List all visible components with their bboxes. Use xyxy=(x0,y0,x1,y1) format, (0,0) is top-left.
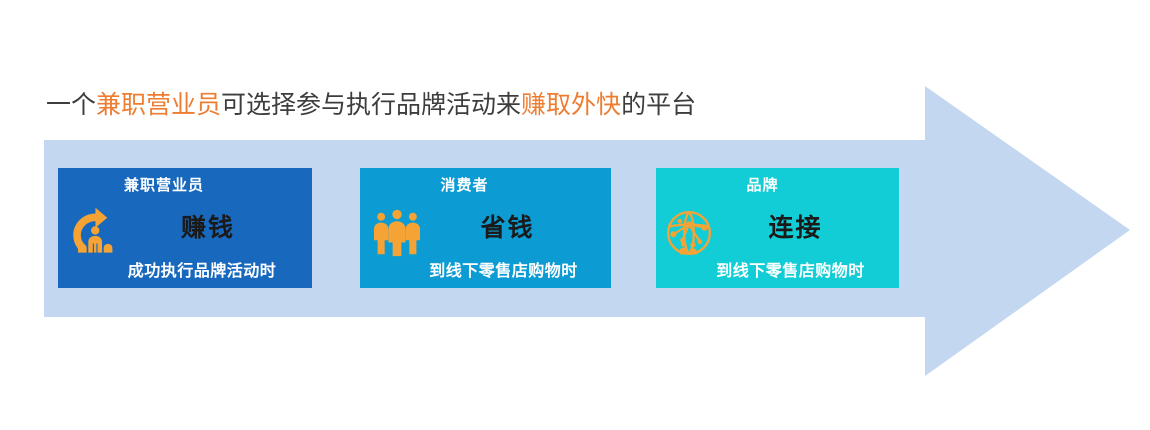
card-header-label: 兼职营业员 xyxy=(58,175,312,195)
card-brand[interactable]: 品牌 连接 到线下零售店购物时 xyxy=(656,168,899,288)
card-footer-label: 成功执行品牌活动时 xyxy=(58,260,312,281)
card-consumer[interactable]: 消费者 省钱 到线下零售店购物时 xyxy=(360,168,611,288)
card-main-label: 省钱 xyxy=(360,212,611,244)
title-segment-4: 的平台 xyxy=(621,90,696,119)
title-segment-2: 可选择参与执行品牌活动来 xyxy=(221,90,521,119)
title-segment-1-highlight: 兼职营业员 xyxy=(96,90,221,119)
title-segment-3-highlight: 赚取外快 xyxy=(521,90,621,119)
card-footer-label: 到线下零售店购物时 xyxy=(656,260,899,281)
card-header-label: 消费者 xyxy=(360,175,611,195)
card-footer-label: 到线下零售店购物时 xyxy=(360,260,611,281)
card-main-label: 赚钱 xyxy=(58,212,312,244)
card-part-time-clerk[interactable]: 兼职营业员 赚钱 成功执行品牌活动时 xyxy=(58,168,312,288)
card-main-label: 连接 xyxy=(656,212,899,244)
title-segment-0: 一个 xyxy=(46,90,96,119)
card-header-label: 品牌 xyxy=(656,175,899,195)
page-title: 一个兼职营业员可选择参与执行品牌活动来赚取外快的平台 xyxy=(46,88,696,122)
slide-canvas: 一个兼职营业员可选择参与执行品牌活动来赚取外快的平台 兼职营业员 赚钱 成功执行… xyxy=(0,0,1150,430)
